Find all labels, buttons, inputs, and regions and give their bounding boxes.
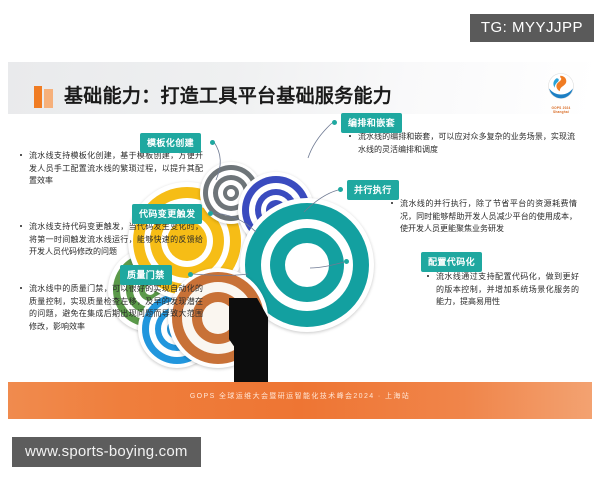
desc-template-creation: 流水线支持模板化创建，基于模板创建，方便开发人员手工配置流水线的繁琐过程，以提升… xyxy=(20,150,203,188)
tag-dot-code-change-trigger xyxy=(208,211,213,216)
desc-parallel-execution: 流水线的并行执行，除了节省平台的资源耗费情况，同时能够帮助开发人员减少平台的使用… xyxy=(391,198,577,236)
tag-dot-config-as-code xyxy=(344,259,349,264)
tag-config-as-code[interactable]: 配置代码化 xyxy=(421,252,482,272)
tag-parallel-execution[interactable]: 并行执行 xyxy=(347,180,399,200)
tag-quality-gate[interactable]: 质量门禁 xyxy=(120,265,172,285)
tag-template-creation[interactable]: 模板化创建 xyxy=(140,133,201,153)
tag-dot-template-creation xyxy=(210,140,215,145)
event-banner: GOPS 全球运维大会暨研运智能化技术峰会2024 · 上海站 xyxy=(8,382,592,419)
desc-config-as-code: 流水线通过支持配置代码化，做到更好的版本控制，并增加系统场景化服务的能力，提高易… xyxy=(427,271,579,309)
tag-dot-quality-gate xyxy=(188,272,193,277)
desc-orchestration-nesting: 流水线的编排和嵌套，可以应对众多复杂的业务场景，实现流水线的灵活编排和调度 xyxy=(349,131,575,156)
tg-watermark-tag: TG: MYYJJPP xyxy=(470,14,594,42)
tag-orchestration-nesting[interactable]: 编排和嵌套 xyxy=(341,113,402,133)
desc-quality-gate: 流水线中的质量门禁，可以很好的实现自动化的质量控制，实现质量检查左移，及早的发现… xyxy=(20,283,203,333)
tag-code-change-trigger[interactable]: 代码变更触发 xyxy=(132,204,202,224)
tag-dot-orchestration xyxy=(332,120,337,125)
presentation-slide: 基础能力：打造工具平台基础服务能力 GOPS 2024 Shanghai xyxy=(8,62,592,419)
site-watermark: www.sports-boying.com xyxy=(12,437,201,467)
desc-code-change-trigger: 流水线支持代码变更触发，当代码发生变化时，将第一时间触发流水线运行，能够快速的反… xyxy=(20,221,203,259)
event-banner-text: GOPS 全球运维大会暨研运智能化技术峰会2024 · 上海站 xyxy=(8,391,592,401)
tag-dot-parallel xyxy=(338,187,343,192)
